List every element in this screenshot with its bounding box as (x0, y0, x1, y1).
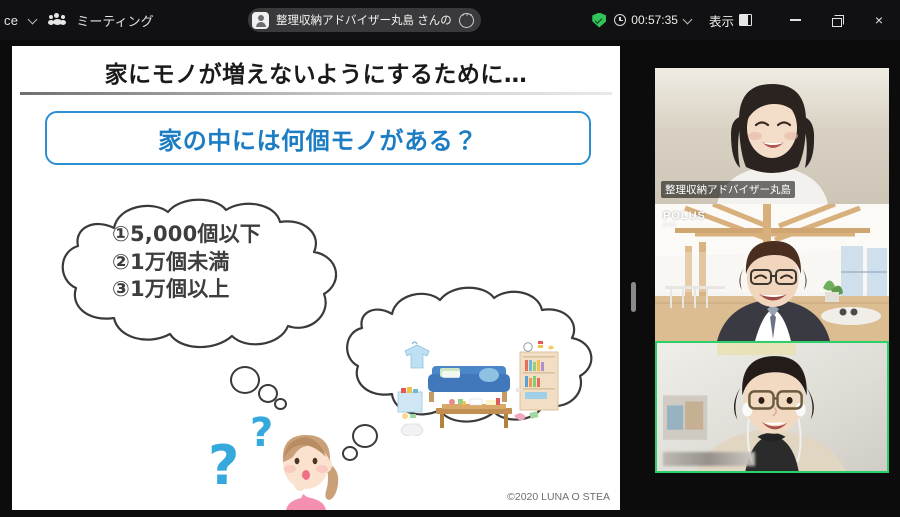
maximize-button[interactable] (816, 0, 858, 40)
restore-window-icon (832, 15, 843, 25)
view-layout-button[interactable]: 表示 (709, 11, 752, 30)
video-tile-2[interactable]: POLUS ポラス (655, 204, 889, 341)
view-label: 表示 (709, 11, 734, 30)
option-2: ②1万個未満 (112, 249, 261, 277)
clock-icon (614, 14, 626, 26)
avatar-icon (252, 12, 269, 29)
messy-room-illustration (392, 338, 567, 436)
options-list: ①5,000個以下 ②1万個未満 ③1万個以上 (112, 221, 261, 304)
more-options-icon[interactable] (459, 13, 474, 28)
security-shield-icon[interactable] (592, 13, 606, 28)
polus-watermark-sub: ポラス (663, 222, 706, 228)
thinking-woman-illustration (270, 428, 348, 510)
chevron-down-icon[interactable] (683, 15, 693, 25)
copyright-text: ©2020 LUNA O STEA (507, 491, 610, 503)
panel-resize-handle[interactable] (631, 282, 636, 312)
titlebar-left-group: ce ミーティング (0, 11, 154, 30)
thought-trail-bubble (274, 398, 287, 410)
panel-divider (624, 40, 644, 517)
question-box: 家の中には何個モノがある？ (45, 111, 591, 165)
video-tile-1[interactable]: 整理収納アドバイザー丸島 (655, 68, 889, 204)
layout-grid-icon (739, 14, 752, 26)
option-3: ③1万個以上 (112, 276, 261, 304)
chevron-down-icon[interactable] (28, 15, 38, 25)
shared-screen-stage: 家にモノが増えないようにするために… 家の中には何個モノがある？ ①5,000個… (0, 40, 632, 517)
meeting-title-pill[interactable]: 整理収納アドバイザー丸島 さんの (248, 8, 481, 32)
close-window-icon: × (875, 13, 883, 27)
titlebar-right-group: 00:57:35 表示 × (592, 0, 900, 40)
polus-watermark-text: POLUS (663, 210, 706, 222)
presentation-slide[interactable]: 家にモノが増えないようにするために… 家の中には何個モノがある？ ①5,000個… (12, 46, 620, 510)
video-tile-3-active-speaker[interactable] (655, 341, 889, 473)
question-box-text: 家の中には何個モノがある？ (158, 121, 478, 156)
option-1: ①5,000個以下 (112, 221, 261, 249)
thought-trail-bubble (352, 424, 378, 448)
question-mark-large: ? (208, 434, 239, 497)
minimize-button[interactable] (774, 0, 816, 40)
participant-name-badge: 整理収納アドバイザー丸島 (661, 181, 795, 198)
app-name-label: ce (4, 13, 18, 28)
meeting-window: ce ミーティング 整理収納アドバイザー丸島 さんの 00:57:35 (0, 0, 900, 517)
polus-watermark: POLUS ポラス (663, 210, 706, 228)
minimize-icon (790, 19, 801, 21)
window-titlebar: ce ミーティング 整理収納アドバイザー丸島 さんの 00:57:35 (0, 0, 900, 40)
meeting-tab-label[interactable]: ミーティング (76, 11, 153, 30)
slide-title: 家にモノが増えないようにするために… (12, 55, 620, 89)
timer-value: 00:57:35 (631, 13, 678, 27)
thought-trail-bubble (230, 366, 260, 394)
meeting-title-pill-container: 整理収納アドバイザー丸島 さんの (248, 8, 481, 32)
blurred-overlay (663, 452, 755, 466)
people-icon (48, 13, 66, 27)
close-button[interactable]: × (858, 0, 900, 40)
title-divider (20, 92, 612, 95)
meeting-title-label: 整理収納アドバイザー丸島 さんの (276, 12, 452, 28)
meeting-timer[interactable]: 00:57:35 (614, 13, 693, 27)
participants-video-panel: 整理収納アドバイザー丸島 (644, 40, 900, 517)
